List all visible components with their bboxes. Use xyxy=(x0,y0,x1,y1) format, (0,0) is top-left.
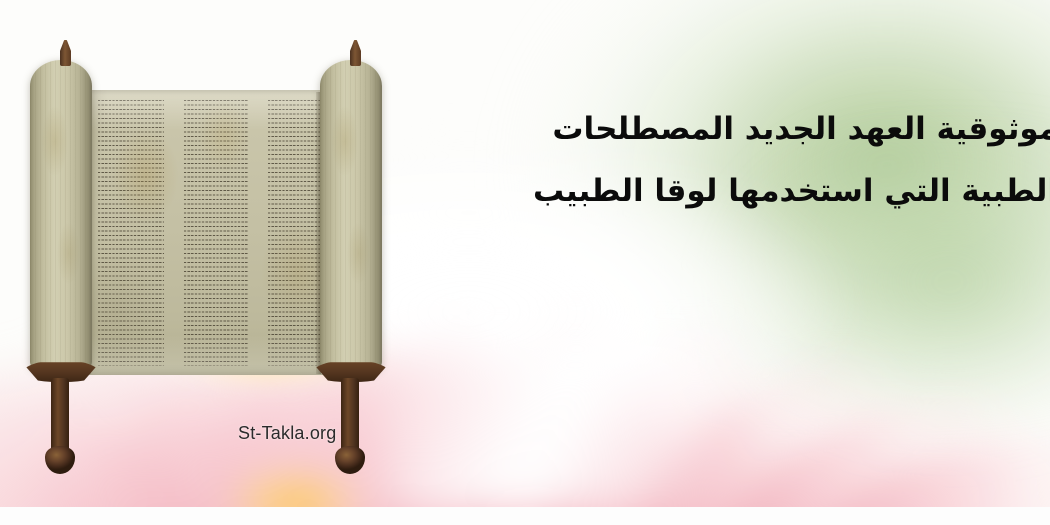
flower-highlight xyxy=(380,340,710,510)
hebrew-text-column xyxy=(98,100,164,366)
scroll-parchment xyxy=(88,90,350,375)
foot-shaft xyxy=(51,378,69,456)
scroll-roller-left xyxy=(30,60,92,372)
scroll-finial-left xyxy=(60,40,71,66)
torah-scroll-illustration xyxy=(8,38,428,458)
foot-shaft xyxy=(341,378,359,456)
bottom-white-band xyxy=(0,507,1050,525)
scroll-finial-right xyxy=(350,40,361,66)
headline: موثوقية العهد الجديد المصطلحات الطبية ال… xyxy=(438,98,1050,222)
roller-grain xyxy=(320,60,382,372)
banner-image: موثوقية العهد الجديد المصطلحات الطبية ال… xyxy=(0,0,1050,525)
watermark-st-takla: St-Takla.org xyxy=(238,423,336,444)
scroll-roller-right xyxy=(320,60,382,372)
headline-line-1: موثوقية العهد الجديد المصطلحات xyxy=(438,98,1050,160)
roller-grain xyxy=(30,60,92,372)
headline-line-2: الطبية التي استخدمها لوقا الطبيب xyxy=(438,160,1050,222)
hebrew-text-column xyxy=(184,100,248,366)
